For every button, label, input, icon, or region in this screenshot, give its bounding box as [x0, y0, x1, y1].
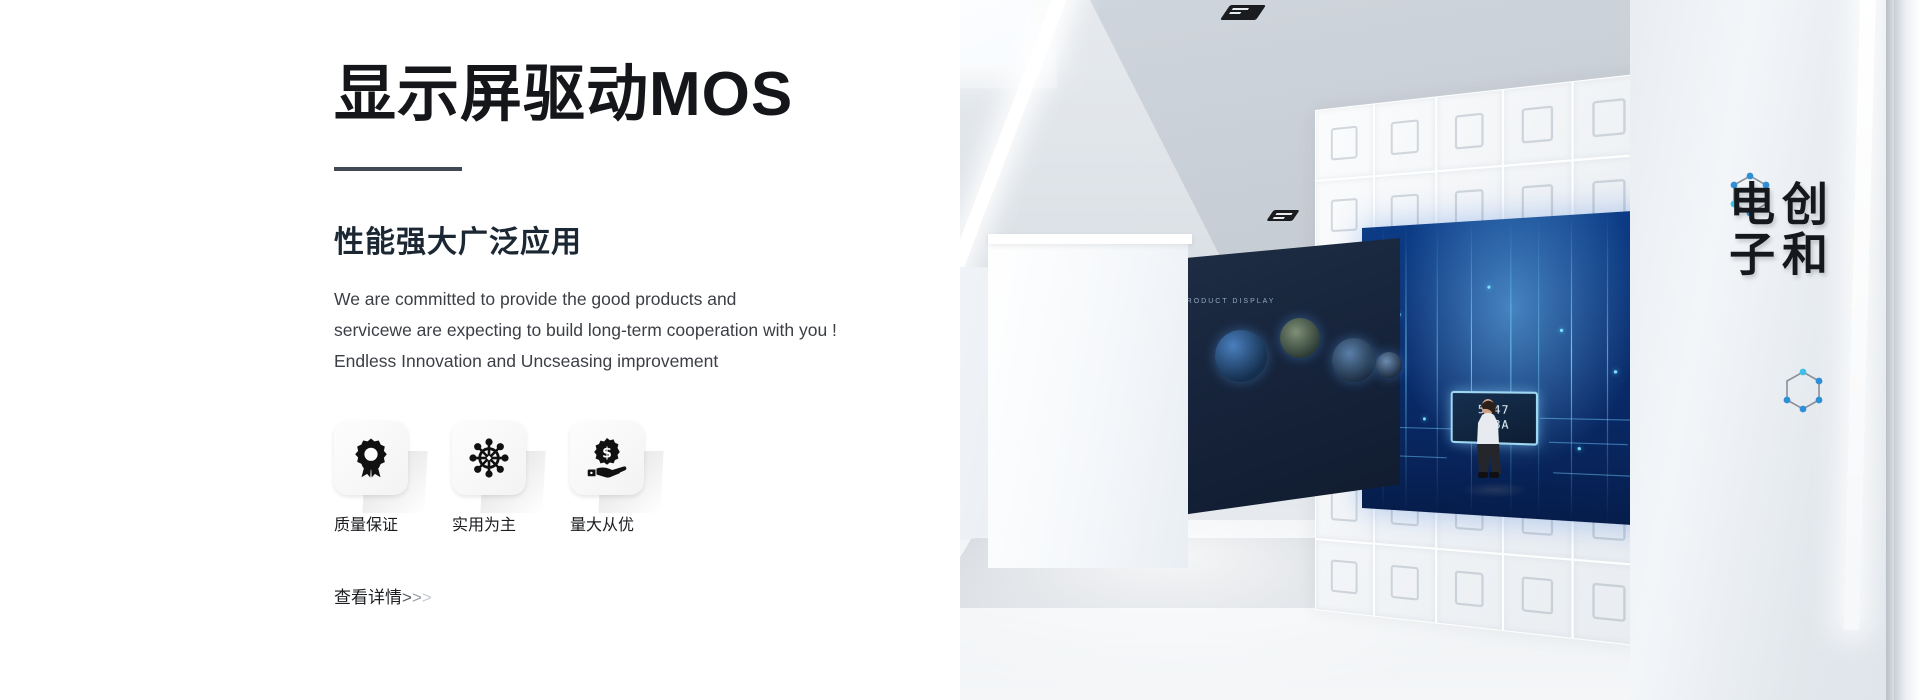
feature-label: 量大从优 — [570, 511, 658, 535]
hero-banner: 5947 C18A PRODUCT DISPLAY — [0, 0, 1920, 700]
wall-edge-shadow — [1886, 0, 1894, 700]
navy-wall-caption: PRODUCT DISPLAY — [1180, 298, 1275, 305]
wall-tile — [1315, 539, 1374, 617]
hero-text-panel: 显示屏驱动MOS 性能强大广泛应用 We are committed to pr… — [0, 0, 960, 700]
partition-wall-top-edge — [988, 234, 1192, 244]
partition-wall-front — [988, 238, 1188, 568]
feature-item-practical[interactable]: 实用为主 — [452, 421, 540, 535]
feature-icon-box[interactable] — [452, 421, 526, 495]
wall-tile — [1437, 548, 1503, 631]
exhibit-circle — [1332, 338, 1376, 382]
view-details-link[interactable]: 查看详情>>> — [334, 583, 432, 608]
quality-badge-icon — [349, 436, 393, 480]
person-visitor — [1460, 398, 1516, 490]
description-line-1: We are committed to provide the good pro… — [334, 284, 914, 315]
right-signage-wall — [1630, 0, 1920, 700]
cta-label: 查看详情 — [334, 583, 402, 608]
wall-tile — [1315, 103, 1374, 181]
chevron-3-icon: > — [422, 588, 432, 608]
exhibit-circle — [1215, 330, 1267, 382]
description-line-2: servicewe are expecting to build long-te… — [334, 315, 914, 346]
hand-coin-icon: $ — [585, 436, 629, 480]
wall-tile — [1437, 89, 1503, 172]
description-line-3: Endless Innovation and Uncseasing improv… — [334, 346, 914, 377]
wall-brand-signage: 电子 创和 — [1725, 180, 1825, 280]
hero-description: We are committed to provide the good pro… — [334, 284, 914, 377]
gear-network-icon — [467, 436, 511, 480]
hero-subtitle: 性能强大广泛应用 — [334, 223, 914, 262]
feature-item-bulk-discount[interactable]: $ 量大从优 — [570, 421, 658, 535]
svg-text:$: $ — [602, 446, 612, 462]
chevron-2-icon: > — [412, 588, 422, 608]
wall-tile — [1374, 543, 1436, 623]
feature-icon-box[interactable]: $ — [570, 421, 644, 495]
wall-signage-column-1: 电子 — [1725, 180, 1772, 280]
feature-list: 质量保证 — [334, 421, 914, 535]
wall-tile — [1374, 96, 1436, 176]
hex-molecule-icon — [1781, 368, 1825, 418]
feature-item-quality[interactable]: 质量保证 — [334, 421, 422, 535]
wall-tile — [1503, 554, 1573, 639]
title-divider — [334, 167, 462, 171]
wall-signage-column-2: 创和 — [1778, 180, 1825, 280]
hero-content: 显示屏驱动MOS 性能强大广泛应用 We are committed to pr… — [334, 58, 914, 608]
wall-tile — [1503, 81, 1573, 166]
page-title: 显示屏驱动MOS — [334, 58, 914, 131]
exhibit-circle — [1376, 352, 1402, 378]
chevron-1-icon: > — [402, 588, 412, 608]
feature-label: 实用为主 — [452, 511, 540, 535]
exhibit-circle — [1280, 318, 1320, 358]
feature-label: 质量保证 — [334, 511, 422, 535]
wall-edge-highlight — [1894, 0, 1920, 700]
feature-icon-box[interactable] — [334, 421, 408, 495]
